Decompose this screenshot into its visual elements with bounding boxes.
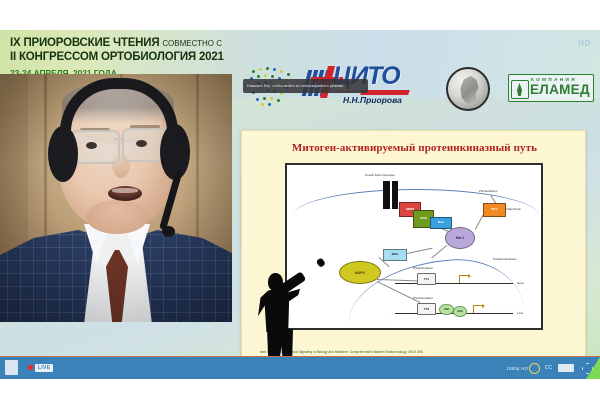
label-growth-factor-receptor: Growth Factor Receptor xyxy=(365,173,395,177)
speaker-webcam[interactable] xyxy=(0,74,232,322)
priorov-medal-icon xyxy=(446,67,490,111)
node-tf1: TF1 xyxy=(417,273,436,285)
node-p300: p300 xyxy=(453,306,467,317)
letterbox-top xyxy=(0,0,600,30)
live-status[interactable]: LIVE xyxy=(28,362,53,373)
node-raf1: Raf-1 xyxy=(445,227,475,249)
conference-title-line2: II КОНГРЕССОМ ОРТОБИОЛОГИЯ 2021 xyxy=(10,50,230,64)
conference-title-line1: IX ПРИОРОВСКИЕ ЧТЕНИЯ СОВМЕСТНО С xyxy=(10,37,230,50)
silhouette-pointing-arm xyxy=(279,271,306,294)
label-gene-2: c-fos xyxy=(517,311,523,315)
letterbox-bottom xyxy=(0,378,600,400)
cc-icon[interactable]: CC xyxy=(545,361,552,375)
conference-title-conjunction: СОВМЕСТНО С xyxy=(162,39,222,48)
label-phosphorylated-1: Phosphorylated xyxy=(413,266,432,270)
video-canvas[interactable]: IX ПРИОРОВСКИЕ ЧТЕНИЯ СОВМЕСТНО С II КОН… xyxy=(0,30,600,378)
label-gene-1: Gene xyxy=(517,281,524,285)
label-phorbol-esters: Phorbol Esters xyxy=(479,189,497,193)
play-pause-button[interactable] xyxy=(5,360,18,375)
tooltip-text: Нажмите Esc, чтобы выйти из полноэкранно… xyxy=(247,84,343,88)
node-pkc: PKC xyxy=(483,203,506,217)
live-label: LIVE xyxy=(35,364,53,372)
presenter-silhouette xyxy=(258,273,306,365)
slide-title: Митоген-активируемый протеинкиназный пут… xyxy=(242,142,587,154)
slide-citation: Iseri B.A., et al. Hormonal Signaling in… xyxy=(260,350,570,354)
transcription-arrow-1 xyxy=(459,275,469,283)
transcription-arrow-2 xyxy=(473,305,483,313)
dna-strand-1 xyxy=(395,283,513,284)
mapk-pathway-diagram: Growth Factor Receptor Cell Membrane Pho… xyxy=(285,163,543,330)
elamed-wordmark: ЕЛАМЕД xyxy=(530,82,590,97)
node-ras: Ras xyxy=(430,217,452,229)
quality-label[interactable]: 1080p HD xyxy=(506,361,528,375)
fullscreen-exit-tooltip: Нажмите Esc, чтобы выйти из полноэкранно… xyxy=(243,79,368,93)
conference-title-main: IX ПРИОРОВСКИЕ ЧТЕНИЯ xyxy=(10,37,159,49)
elamed-flame-icon xyxy=(511,80,529,99)
webcam-vignette xyxy=(0,74,232,322)
node-cbp: CBP xyxy=(439,304,454,315)
hd-badge: HD xyxy=(578,39,591,48)
webinar-player: IX ПРИОРОВСКИЕ ЧТЕНИЯ СОВМЕСТНО С II КОН… xyxy=(0,0,600,400)
receptor-icon xyxy=(383,181,398,209)
elamed-kompaniya-text: КОМПАНИЯ xyxy=(531,77,577,82)
node-mapk: MAPK xyxy=(339,261,381,284)
silhouette-body xyxy=(258,288,300,332)
label-nuclear-membrane: Nuclear Membrane xyxy=(493,257,517,261)
conference-titles: IX ПРИОРОВСКИЕ ЧТЕНИЯ СОВМЕСТНО С II КОН… xyxy=(10,37,230,78)
elamed-logo: КОМПАНИЯ ЕЛАМЕД xyxy=(508,74,594,102)
cito-subtitle: Н.Н.Приорова xyxy=(343,95,402,105)
volume-slider[interactable] xyxy=(558,364,574,372)
live-dot-icon xyxy=(28,365,33,370)
node-mek: MEK xyxy=(383,249,407,261)
gear-icon[interactable] xyxy=(529,363,540,374)
player-control-bar[interactable]: LIVE 1080p HD CC xyxy=(0,356,600,379)
node-tf2: TF2 xyxy=(417,303,436,315)
